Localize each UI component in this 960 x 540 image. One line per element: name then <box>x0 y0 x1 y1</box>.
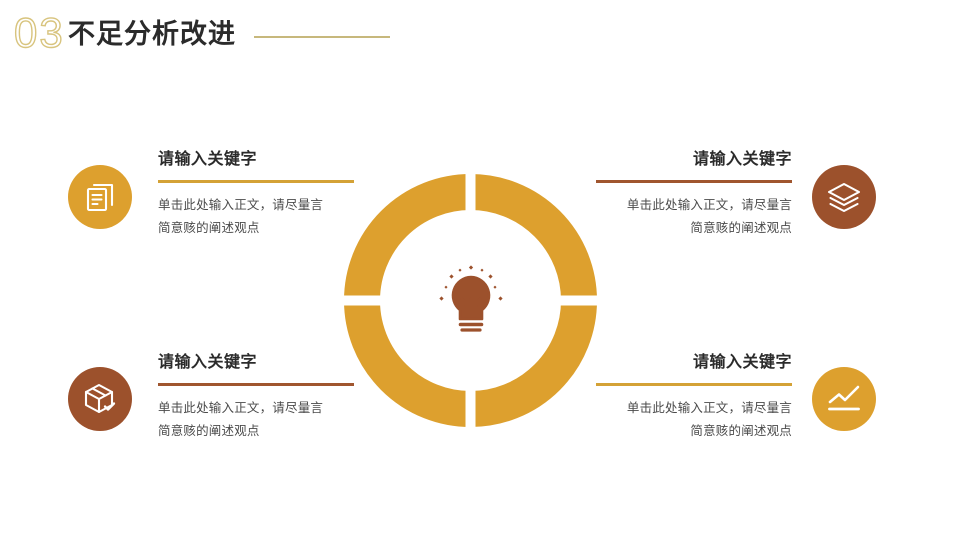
block-body: 单击此处输入正文，请尽量言 简意赅的阐述观点 <box>158 397 354 443</box>
badge-bottom-right[interactable] <box>812 367 876 431</box>
block-body-line2: 简意赅的阐述观点 <box>158 217 354 240</box>
block-body-line1: 单击此处输入正文，请尽量言 <box>158 194 354 217</box>
package-check-icon <box>83 382 117 416</box>
content-block-top-right: 请输入关键字 单击此处输入正文，请尽量言 简意赅的阐述观点 <box>596 148 792 240</box>
block-divider <box>596 383 792 386</box>
section-number: 03 <box>14 10 65 56</box>
block-divider <box>158 180 354 183</box>
block-body-line2: 简意赅的阐述观点 <box>158 420 354 443</box>
block-body: 单击此处输入正文，请尽量言 简意赅的阐述观点 <box>596 194 792 240</box>
block-body-line1: 单击此处输入正文，请尽量言 <box>158 397 354 420</box>
block-body-line1: 单击此处输入正文，请尽量言 <box>596 397 792 420</box>
block-body: 单击此处输入正文，请尽量言 简意赅的阐述观点 <box>158 194 354 240</box>
badge-top-left[interactable] <box>68 165 132 229</box>
badge-bottom-left[interactable] <box>68 367 132 431</box>
layers-stack-icon <box>827 180 861 214</box>
block-heading: 请输入关键字 <box>596 351 792 375</box>
line-chart-icon <box>827 383 861 415</box>
page-title: 不足分析改进 <box>68 16 236 52</box>
block-body-line1: 单击此处输入正文，请尽量言 <box>596 194 792 217</box>
block-heading: 请输入关键字 <box>158 351 354 375</box>
slide-header: 03 不足分析改进 <box>0 0 960 70</box>
badge-top-right[interactable] <box>812 165 876 229</box>
header-divider <box>254 36 390 38</box>
block-divider <box>596 180 792 183</box>
lightbulb-icon <box>436 262 506 340</box>
content-block-bottom-left: 请输入关键字 单击此处输入正文，请尽量言 简意赅的阐述观点 <box>158 351 354 443</box>
content-block-top-left: 请输入关键字 单击此处输入正文，请尽量言 简意赅的阐述观点 <box>158 148 354 240</box>
block-divider <box>158 383 354 386</box>
block-heading: 请输入关键字 <box>158 148 354 172</box>
content-block-bottom-right: 请输入关键字 单击此处输入正文，请尽量言 简意赅的阐述观点 <box>596 351 792 443</box>
block-body-line2: 简意赅的阐述观点 <box>596 217 792 240</box>
document-lines-icon <box>84 181 116 213</box>
block-body-line2: 简意赅的阐述观点 <box>596 420 792 443</box>
block-body: 单击此处输入正文，请尽量言 简意赅的阐述观点 <box>596 397 792 443</box>
block-heading: 请输入关键字 <box>596 148 792 172</box>
